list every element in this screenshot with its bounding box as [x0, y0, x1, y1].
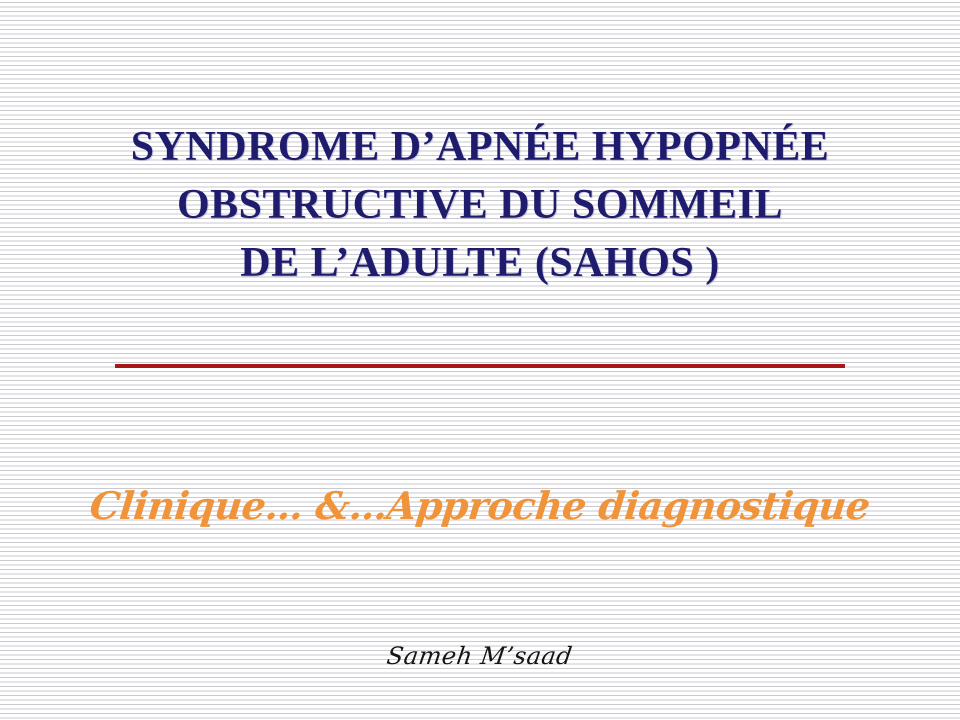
subtitle-text: Clinique… &…Approche diagnostique	[88, 481, 873, 531]
title-line-3: DE L’ADULTE (SAHOS )	[0, 234, 960, 292]
title-line-1: SYNDROME D’APNÉE HYPOPNÉE	[0, 118, 960, 176]
author-name: Sameh M’saad	[385, 640, 575, 672]
title-divider-rule	[115, 364, 845, 368]
title-line-2: OBSTRUCTIVE DU SOMMEIL	[0, 176, 960, 234]
subtitle: Clinique… &…Approche diagnostique	[0, 481, 960, 531]
presentation-slide: SYNDROME D’APNÉE HYPOPNÉE OBSTRUCTIVE DU…	[0, 0, 960, 720]
author-credit: Sameh M’saad	[0, 640, 960, 672]
page-title: SYNDROME D’APNÉE HYPOPNÉE OBSTRUCTIVE DU…	[0, 118, 960, 292]
